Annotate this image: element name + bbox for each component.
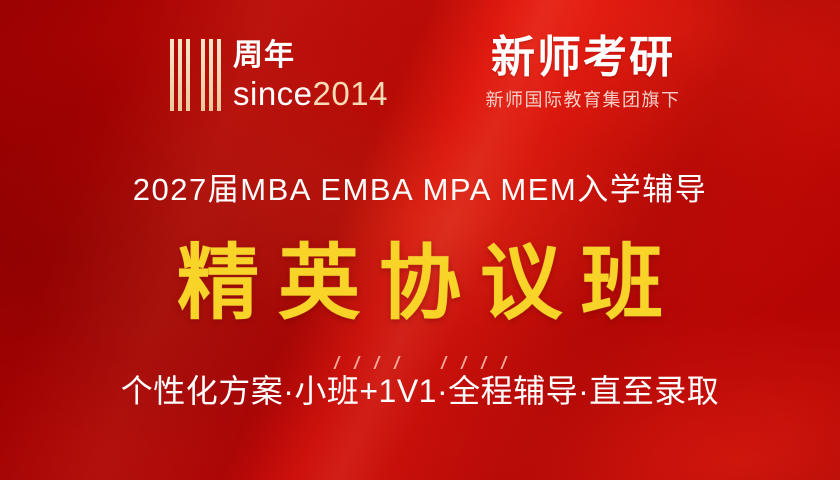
since-word: since [233, 75, 313, 112]
anniversary-text: 周年 since2014 [233, 39, 388, 112]
brand-subtitle: 新师国际教育集团旗下 [468, 87, 698, 113]
brand-lockup: 新师考研 新师国际教育集团旗下 [468, 33, 698, 113]
anniversary-lockup: 周年 since2014 [170, 39, 388, 112]
anniversary-label: 周年 [233, 39, 388, 73]
tally-bars-icon [170, 39, 221, 111]
tally-bar [201, 39, 205, 111]
tally-bar [209, 39, 213, 111]
tally-bar [186, 39, 190, 111]
program-line: 2027届MBA EMBA MPA MEM入学辅导 [0, 164, 840, 209]
since-line: since2014 [233, 76, 388, 112]
headline: 精英协议班 [0, 238, 840, 330]
brand-name: 新师考研 [468, 33, 698, 83]
promo-poster: 周年 since2014 新师考研 新师国际教育集团旗下 2027届MBA EM… [0, 0, 840, 480]
tally-bar [170, 39, 174, 111]
tagline: 个性化方案·小班+1V1·全程辅导·直至录取 [0, 370, 840, 412]
tally-bar [178, 39, 182, 111]
tally-bar [217, 39, 221, 111]
since-year: 2014 [313, 75, 388, 112]
poster-header: 周年 since2014 新师考研 新师国际教育集团旗下 [0, 33, 840, 133]
